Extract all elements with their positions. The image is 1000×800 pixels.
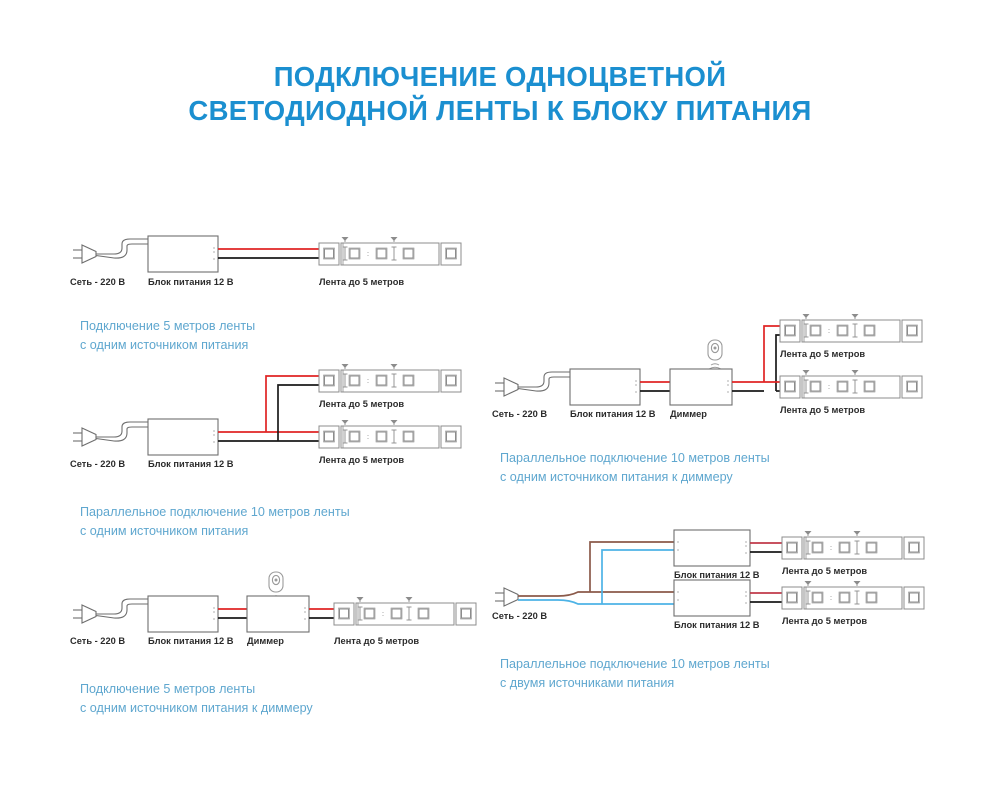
mains-plug-icon xyxy=(73,422,148,446)
diagram-single-5m-dimmer-svg: Сеть - 220 В Блок питания 12 В Диммер Ле… xyxy=(70,570,490,650)
led-strip-1 xyxy=(319,237,461,265)
mains-plug-icon xyxy=(495,372,570,396)
label-strip-1: Лента до 5 метров xyxy=(334,636,419,646)
diagram-parallel-10m-dimmer: Лента до 5 метров Сеть - 220 В Блок пита… xyxy=(492,312,932,422)
caption-line1: Подключение 5 метров ленты xyxy=(80,319,255,333)
caption-line2: с одним источником питания к диммеру xyxy=(500,468,900,487)
label-mains: Сеть - 220 В xyxy=(70,459,125,469)
led-strip-1 xyxy=(334,597,476,625)
caption-line2: с одним источником питания xyxy=(80,522,480,541)
ac-wires xyxy=(518,542,674,604)
label-strip-2: Лента до 5 метров xyxy=(319,455,404,465)
page-title-line1: Подключение одноцветной xyxy=(274,61,727,92)
led-strip-1 xyxy=(319,364,461,392)
caption-single-5m-dimmer: Подключение 5 метров ленты с одним источ… xyxy=(80,661,460,737)
diagram-parallel-10m-dimmer-svg: Лента до 5 метров Сеть - 220 В Блок пита… xyxy=(492,312,932,422)
dimmer-box xyxy=(670,369,732,405)
dc-parallel-wires xyxy=(218,376,319,441)
remote-control-icon xyxy=(708,340,722,369)
psu1-output-wires xyxy=(750,543,784,552)
led-strip-2 xyxy=(780,370,922,398)
label-strip-2: Лента до 5 метров xyxy=(780,405,865,415)
label-power-supply: Блок питания 12 В xyxy=(570,409,656,419)
diagram-single-5m-svg: Сеть - 220 В Блок питания 12 В Лента до … xyxy=(70,232,490,292)
diagram-parallel-10m-two-psu-svg: Блок питания 12 В Лента до 5 метров Сеть… xyxy=(492,522,932,632)
diagram-single-5m: Сеть - 220 В Блок питания 12 В Лента до … xyxy=(70,232,490,292)
label-dimmer: Диммер xyxy=(247,636,284,646)
dimmer-box xyxy=(247,596,309,632)
power-supply-box-2 xyxy=(674,580,750,616)
caption-line1: Параллельное подключение 10 метров ленты xyxy=(500,657,770,671)
label-strip-1: Лента до 5 метров xyxy=(319,399,404,409)
label-strip-2: Лента до 5 метров xyxy=(782,616,867,626)
caption-parallel-10m-one-psu: Параллельное подключение 10 метров ленты… xyxy=(80,484,480,560)
power-supply-box xyxy=(148,596,218,632)
dc-output-wires xyxy=(218,249,321,258)
label-mains: Сеть - 220 В xyxy=(492,409,547,419)
caption-line1: Параллельное подключение 10 метров ленты xyxy=(80,505,350,519)
label-power-supply: Блок питания 12 В xyxy=(148,277,234,287)
led-strip-1 xyxy=(780,314,922,342)
caption-line1: Подключение 5 метров ленты xyxy=(80,682,255,696)
caption-line2: с одним источником питания к диммеру xyxy=(80,699,460,718)
power-supply-box xyxy=(148,236,218,272)
label-mains: Сеть - 220 В xyxy=(70,277,125,287)
label-strip-1: Лента до 5 метров xyxy=(780,349,865,359)
caption-parallel-10m-dimmer: Параллельное подключение 10 метров ленты… xyxy=(500,430,900,506)
caption-line1: Параллельное подключение 10 метров ленты xyxy=(500,451,770,465)
psu-to-dimmer-wires xyxy=(218,609,247,618)
caption-parallel-10m-two-psu: Параллельное подключение 10 метров ленты… xyxy=(500,636,900,712)
diagram-single-5m-dimmer: Сеть - 220 В Блок питания 12 В Диммер Ле… xyxy=(70,570,490,650)
label-mains: Сеть - 220 В xyxy=(492,611,547,621)
label-power-supply-1: Блок питания 12 В xyxy=(674,570,760,580)
psu-to-dimmer-wires xyxy=(640,382,670,391)
power-supply-box xyxy=(148,419,218,455)
led-strip-2 xyxy=(319,420,461,448)
label-mains: Сеть - 220 В xyxy=(70,636,125,646)
mains-plug-icon xyxy=(495,588,518,606)
diagram-parallel-10m-one-psu: Лента до 5 метров Сеть - 220 В Блок пита… xyxy=(70,362,490,472)
led-strip-2 xyxy=(782,581,924,609)
diagram-parallel-10m-one-psu-svg: Лента до 5 метров Сеть - 220 В Блок пита… xyxy=(70,362,490,472)
label-power-supply: Блок питания 12 В xyxy=(148,636,234,646)
diagram-page: Подключение одноцветной светодиодной лен… xyxy=(0,0,1000,800)
label-power-supply: Блок питания 12 В xyxy=(148,459,234,469)
diagram-parallel-10m-two-psu: Блок питания 12 В Лента до 5 метров Сеть… xyxy=(492,522,932,632)
page-title-line2: светодиодной ленты к блоку питания xyxy=(0,94,1000,128)
label-dimmer: Диммер xyxy=(670,409,707,419)
caption-line2: с двумя источниками питания xyxy=(500,674,900,693)
label-power-supply-2: Блок питания 12 В xyxy=(674,620,760,630)
power-supply-box xyxy=(570,369,640,405)
mains-plug-icon xyxy=(73,239,148,263)
dimmer-to-strip-wires xyxy=(309,609,336,618)
psu2-output-wires xyxy=(750,593,784,602)
label-strip-1: Лента до 5 метров xyxy=(319,277,404,287)
mains-plug-icon xyxy=(73,599,148,623)
dimmer-parallel-wires xyxy=(732,326,782,391)
label-strip-1: Лента до 5 метров xyxy=(782,566,867,576)
page-title: Подключение одноцветной светодиодной лен… xyxy=(0,60,1000,128)
caption-line2: с одним источником питания xyxy=(80,336,440,355)
led-strip-1 xyxy=(782,531,924,559)
power-supply-box-1 xyxy=(674,530,750,566)
